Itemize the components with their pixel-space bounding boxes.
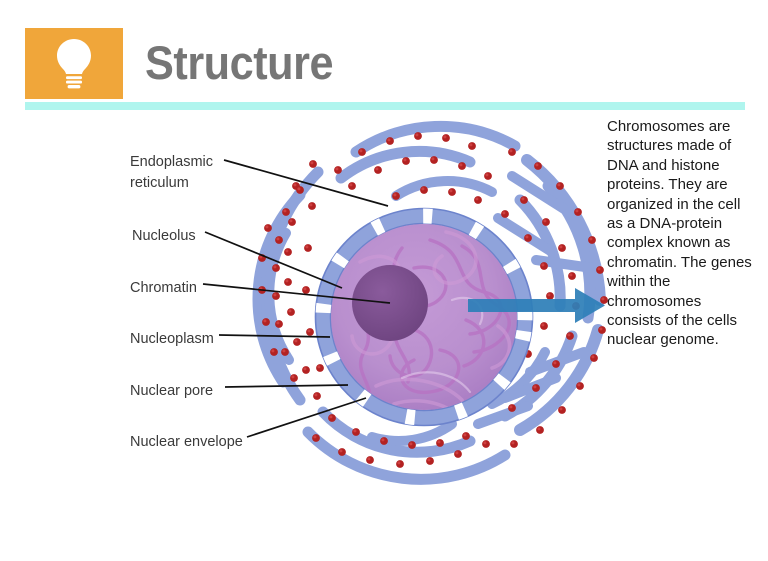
slide-canvas: Structure bbox=[0, 0, 768, 561]
label-chromatin: Chromatin bbox=[130, 278, 197, 299]
label-nucleoplasm: Nucleoplasm bbox=[130, 329, 214, 350]
label-nuclear-envelope: Nuclear envelope bbox=[130, 432, 243, 453]
label-endoplasmic-reticulum-line1: Endoplasmic bbox=[130, 152, 213, 173]
label-nuclear-pore: Nuclear pore bbox=[130, 381, 213, 402]
label-endoplasmic-reticulum: Endoplasmic reticulum bbox=[130, 152, 213, 194]
label-nucleolus: Nucleolus bbox=[132, 226, 196, 247]
description-text: Chromosomes are structures made of DNA a… bbox=[607, 117, 759, 350]
leader-nuclear-pore bbox=[225, 385, 348, 387]
leader-nucleoplasm bbox=[219, 335, 330, 337]
label-endoplasmic-reticulum-line2: reticulum bbox=[130, 173, 213, 194]
